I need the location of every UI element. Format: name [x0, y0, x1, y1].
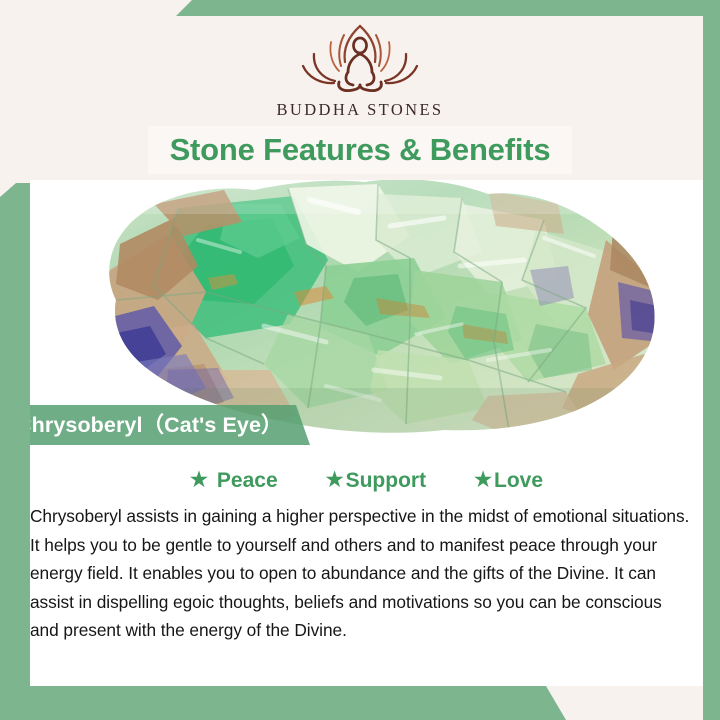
brand-name: BUDDHA STONES — [0, 100, 720, 120]
lotus-meditation-icon — [285, 18, 435, 96]
star-icon: ★ — [326, 470, 344, 490]
stone-description: Chrysoberyl assists in gaining a higher … — [30, 502, 690, 645]
star-icon: ★ — [474, 470, 492, 490]
benefit-label: Peace — [217, 470, 278, 491]
star-icon: ★ — [190, 470, 208, 490]
benefits-row: ★ Peace ★ Support ★ Love — [30, 462, 703, 498]
frame-bottom-accent — [0, 686, 600, 720]
stone-caption-label: Chrysoberyl（Cat's Eye） — [16, 405, 283, 445]
page-title: Stone Features & Benefits — [0, 128, 720, 172]
brand-logo: BUDDHA STONES — [0, 18, 720, 120]
content-bottom-spacer — [30, 640, 703, 686]
benefit-label: Love — [494, 470, 543, 491]
benefit-love: ★ Love — [474, 470, 543, 491]
header: BUDDHA STONES Stone Features & Benefits — [0, 0, 720, 185]
frame-left-accent — [0, 183, 30, 720]
benefit-peace: ★ Peace — [190, 470, 278, 491]
product-info-card: BUDDHA STONES Stone Features & Benefits — [0, 0, 720, 720]
benefit-support: ★ Support — [326, 470, 426, 491]
benefit-label: Support — [346, 470, 426, 491]
chrysoberyl-stone-image — [58, 180, 678, 442]
frame-right-accent — [703, 0, 720, 720]
